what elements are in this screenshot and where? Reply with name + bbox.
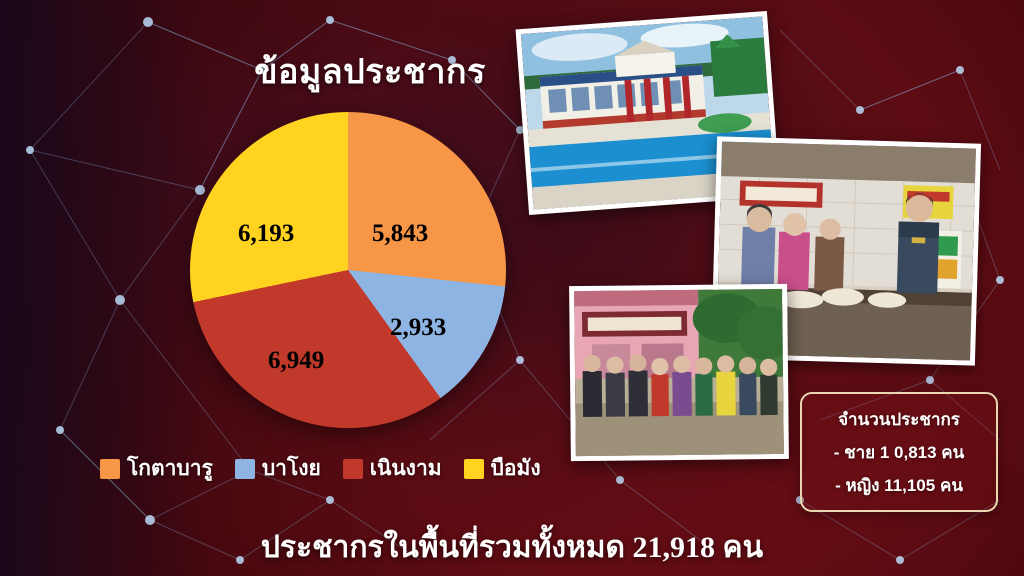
population-pie-chart: 5,843 2,933 6,949 6,193	[190, 112, 506, 428]
group-people-photo-art	[574, 289, 784, 458]
legend-swatch-noenngam	[343, 459, 363, 479]
legend-item-noenngam[interactable]: เนินงาม	[343, 452, 442, 485]
legend-label-noenngam: เนินงาม	[370, 452, 442, 485]
info-heading: จำนวนประชากร	[812, 406, 986, 433]
total-population-caption: ประชากรในพื้นที่รวมทั้งหมด 21,918 คน	[0, 524, 1024, 571]
legend-item-bangoi[interactable]: บาโงย	[235, 452, 321, 485]
pie-slices	[190, 112, 506, 428]
population-info-box: จำนวนประชากร - ชาย 1 0,813 คน - หญิง 11,…	[800, 392, 998, 512]
legend-swatch-buemang	[464, 459, 484, 479]
pie-legend: โกตาบารู บาโงย เนินงาม บือมัง	[100, 452, 541, 485]
info-female-count: - หญิง 11,105 คน	[812, 472, 986, 499]
legend-label-kotabaru: โกตาบารู	[127, 452, 213, 485]
legend-item-buemang[interactable]: บือมัง	[464, 452, 541, 485]
pie-label-buemang: 6,193	[238, 220, 294, 248]
legend-swatch-kotabaru	[100, 459, 120, 479]
pie-label-noenngam: 6,949	[268, 347, 324, 375]
pie-label-bangoi: 2,933	[390, 314, 446, 342]
legend-label-bangoi: บาโงย	[262, 452, 321, 485]
group-people-photo	[569, 284, 789, 461]
legend-swatch-bangoi	[235, 459, 255, 479]
pie-label-kotabaru: 5,843	[372, 220, 428, 248]
legend-label-buemang: บือมัง	[491, 452, 541, 485]
legend-item-kotabaru[interactable]: โกตาบารู	[100, 452, 213, 485]
info-male-count: - ชาย 1 0,813 คน	[812, 439, 986, 466]
